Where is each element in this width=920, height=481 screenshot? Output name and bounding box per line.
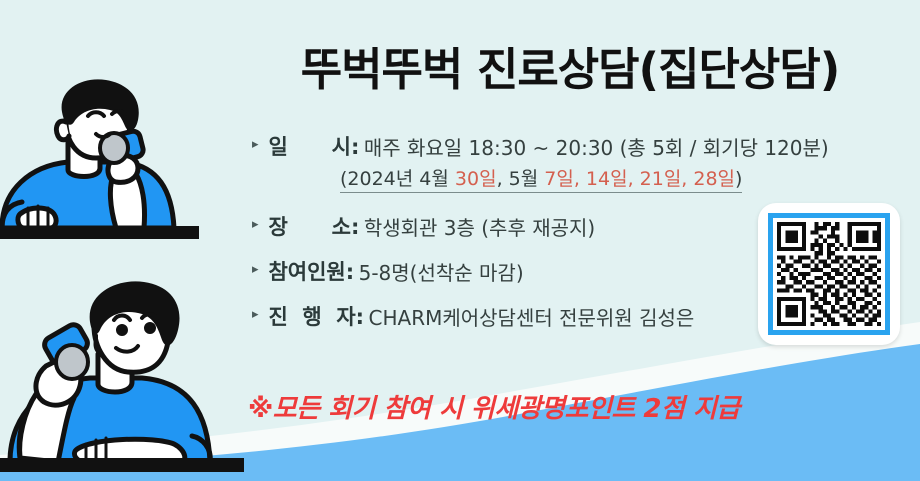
date-part-0: (2024년 4월 — [340, 168, 455, 190]
qr-code-card[interactable] — [758, 203, 900, 345]
person-on-phone-bottom-illustration — [0, 272, 244, 472]
qr-code-matrix[interactable] — [777, 222, 881, 326]
poster-root: 뚜벅뚜벅 진로상담(집단상담) ▸ 일 시: 매주 화요일 18:30 ~ 20… — [0, 0, 920, 481]
date-underline-group: (2024년 4월 30일, 5월 7일, 14일, 21일, 28일) — [340, 164, 742, 193]
poster-title: 뚜벅뚜벅 진로상담(집단상담) — [250, 33, 890, 98]
info-value-place: 학생회관 3층 (추후 재공지) — [364, 212, 595, 241]
info-label-place: 장 소: — [268, 211, 359, 241]
info-label-datetime: 일 시: — [268, 131, 359, 161]
bullet-icon: ▸ — [252, 216, 264, 232]
info-row-datetime: ▸ 일 시: 매주 화요일 18:30 ~ 20:30 (총 5회 / 회기당 … — [252, 131, 892, 161]
person-on-phone-top-illustration — [0, 78, 226, 243]
qr-code-quiet-zone — [773, 218, 885, 330]
date-part-4: ) — [735, 168, 742, 190]
date-part-3: 7일, 14일, 21일, 28일 — [544, 168, 735, 190]
info-subline-dates: (2024년 4월 30일, 5월 7일, 14일, 21일, 28일) — [340, 164, 892, 193]
info-label-facilitator: 진 행 자: — [268, 301, 364, 331]
date-part-2: , 5월 — [497, 168, 545, 190]
date-part-1: 30일 — [455, 168, 497, 190]
info-value-facilitator: CHARM케어상담센터 전문위원 김성은 — [369, 302, 695, 331]
info-value-participants: 5-8명(선착순 마감) — [359, 257, 524, 286]
bullet-icon: ▸ — [252, 306, 264, 322]
bullet-icon: ▸ — [252, 261, 264, 277]
info-value-datetime: 매주 화요일 18:30 ~ 20:30 (총 5회 / 회기당 120분) — [364, 132, 829, 161]
bullet-icon: ▸ — [252, 136, 264, 152]
qr-code-frame — [768, 213, 890, 335]
footnote-text: ※모든 회기 참여 시 위세광명포인트 2점 지급 — [248, 388, 740, 425]
info-label-participants: 참여인원: — [268, 256, 354, 286]
